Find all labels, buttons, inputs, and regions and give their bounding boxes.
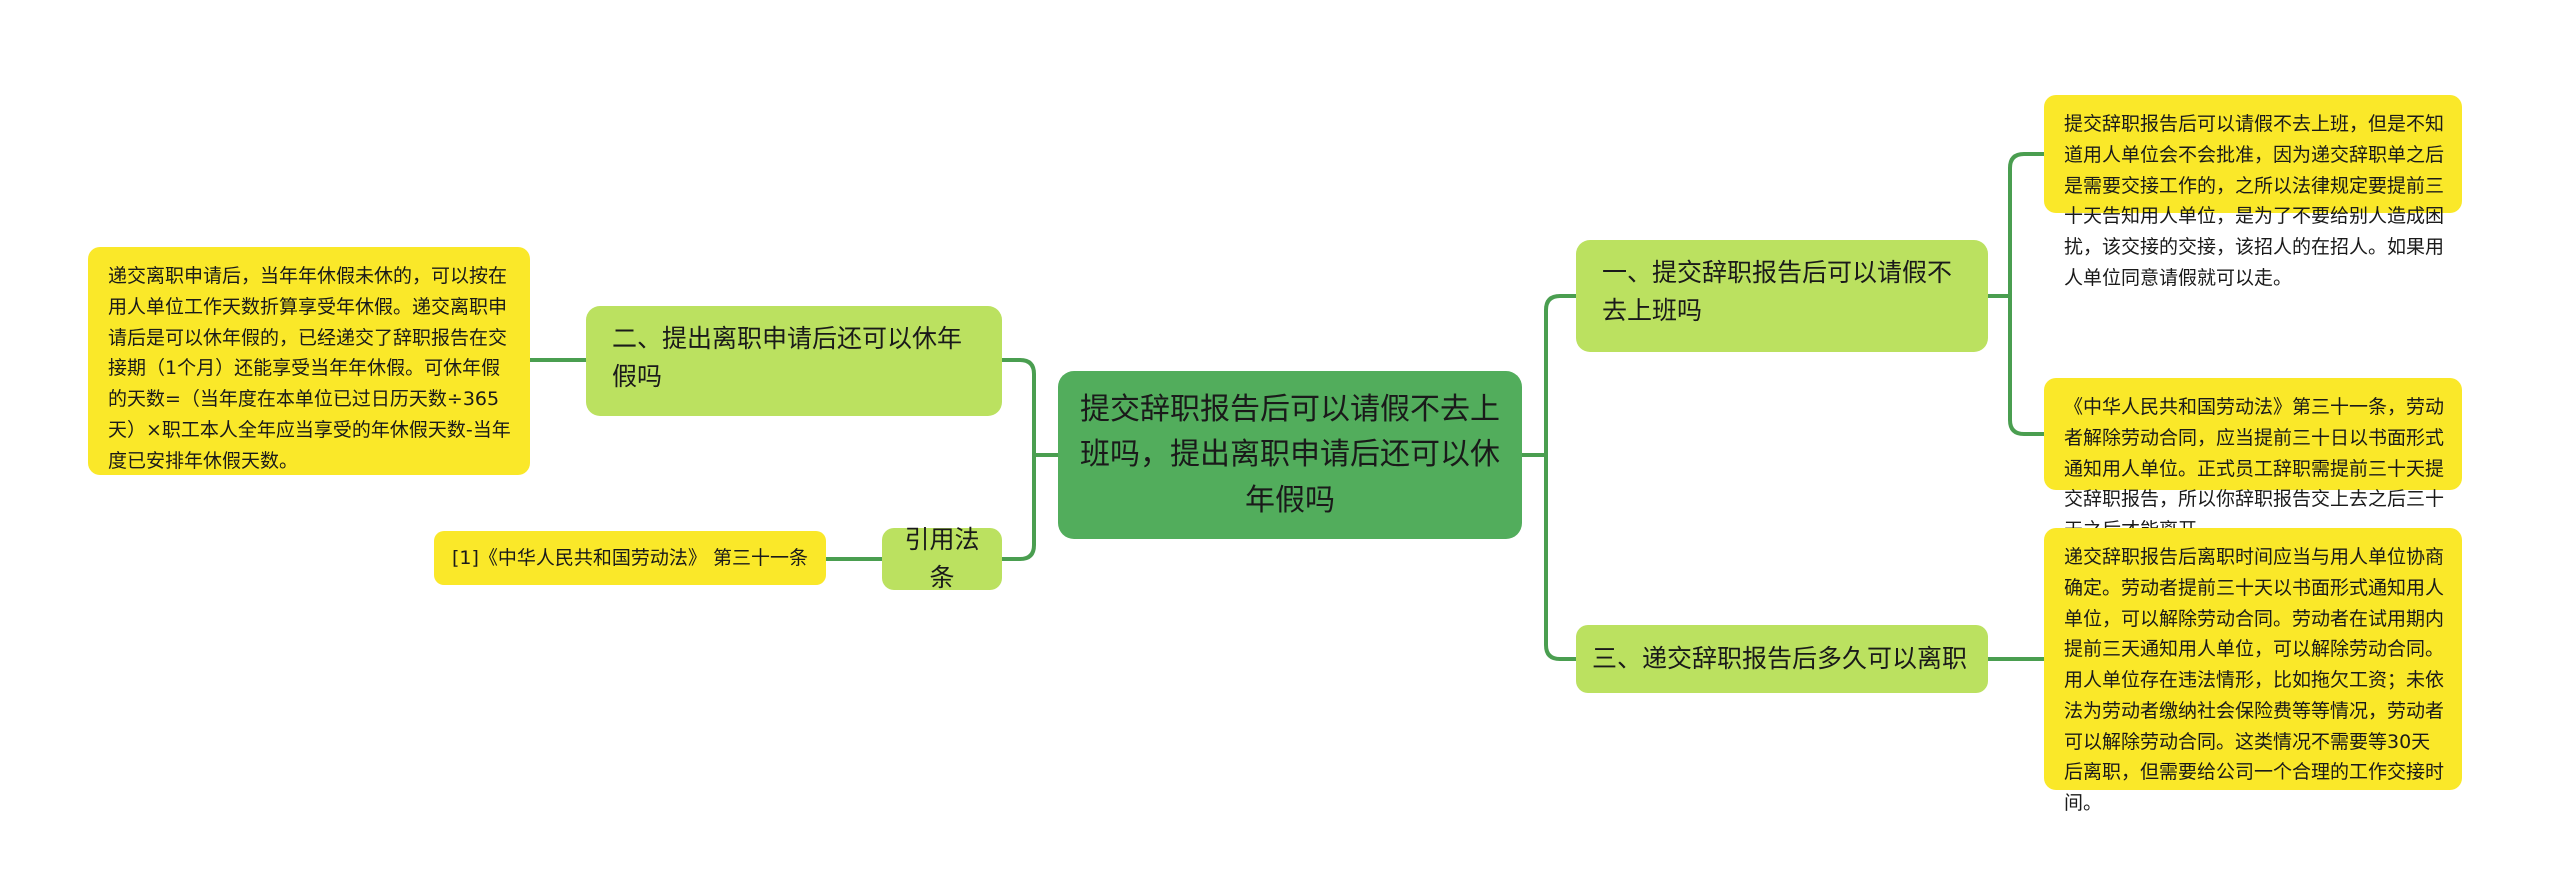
branch-node-quote[interactable]: 引用法条: [882, 528, 1002, 590]
branch-node-2-label: 二、提出离职申请后还可以休年假吗: [612, 320, 982, 396]
leaf-node-2-1[interactable]: 递交离职申请后，当年年休假未休的，可以按在用人单位工作天数折算享受年休假。递交离…: [88, 247, 530, 475]
connector-root-to-branch-1: [1546, 296, 1576, 455]
root-node[interactable]: 提交辞职报告后可以请假不去上班吗，提出离职申请后还可以休年假吗: [1058, 371, 1522, 539]
leaf-node-1-1-text: 提交辞职报告后可以请假不去上班，但是不知道用人单位会不会批准，因为递交辞职单之后…: [2064, 109, 2444, 294]
branch-node-3[interactable]: 三、递交辞职报告后多久可以离职: [1576, 625, 1988, 693]
branch-node-3-label: 三、递交辞职报告后多久可以离职: [1592, 640, 1972, 678]
connector-branch1-to-leaf-2: [2010, 296, 2044, 434]
connector-root-to-branch-quote: [1002, 455, 1034, 559]
leaf-node-1-2[interactable]: 《中华人民共和国劳动法》第三十一条，劳动者解除劳动合同，应当提前三十日以书面形式…: [2044, 378, 2462, 490]
branch-node-2[interactable]: 二、提出离职申请后还可以休年假吗: [586, 306, 1002, 416]
branch-node-1-label: 一、提交辞职报告后可以请假不去上班吗: [1602, 254, 1968, 330]
leaf-node-2-1-text: 递交离职申请后，当年年休假未休的，可以按在用人单位工作天数折算享受年休假。递交离…: [108, 261, 512, 476]
branch-node-1[interactable]: 一、提交辞职报告后可以请假不去上班吗: [1576, 240, 1988, 352]
connector-root-to-branch-2: [1002, 360, 1034, 455]
leaf-node-quote-1[interactable]: [1]《中华人民共和国劳动法》 第三十一条: [434, 531, 826, 585]
leaf-node-3-1[interactable]: 递交辞职报告后离职时间应当与用人单位协商确定。劳动者提前三十天以书面形式通知用人…: [2044, 528, 2462, 790]
mindmap-canvas: 提交辞职报告后可以请假不去上班吗，提出离职申请后还可以休年假吗 一、提交辞职报告…: [0, 0, 2560, 870]
root-node-label: 提交辞职报告后可以请假不去上班吗，提出离职申请后还可以休年假吗: [1076, 387, 1504, 524]
leaf-node-1-2-text: 《中华人民共和国劳动法》第三十一条，劳动者解除劳动合同，应当提前三十日以书面形式…: [2064, 392, 2444, 546]
leaf-node-quote-1-text: [1]《中华人民共和国劳动法》 第三十一条: [450, 544, 810, 573]
connector-branch1-to-leaf-1: [2010, 154, 2044, 296]
leaf-node-3-1-text: 递交辞职报告后离职时间应当与用人单位协商确定。劳动者提前三十天以书面形式通知用人…: [2064, 542, 2444, 819]
connector-root-to-branch-3: [1546, 455, 1576, 659]
leaf-node-1-1[interactable]: 提交辞职报告后可以请假不去上班，但是不知道用人单位会不会批准，因为递交辞职单之后…: [2044, 95, 2462, 213]
branch-node-quote-label: 引用法条: [898, 521, 986, 597]
